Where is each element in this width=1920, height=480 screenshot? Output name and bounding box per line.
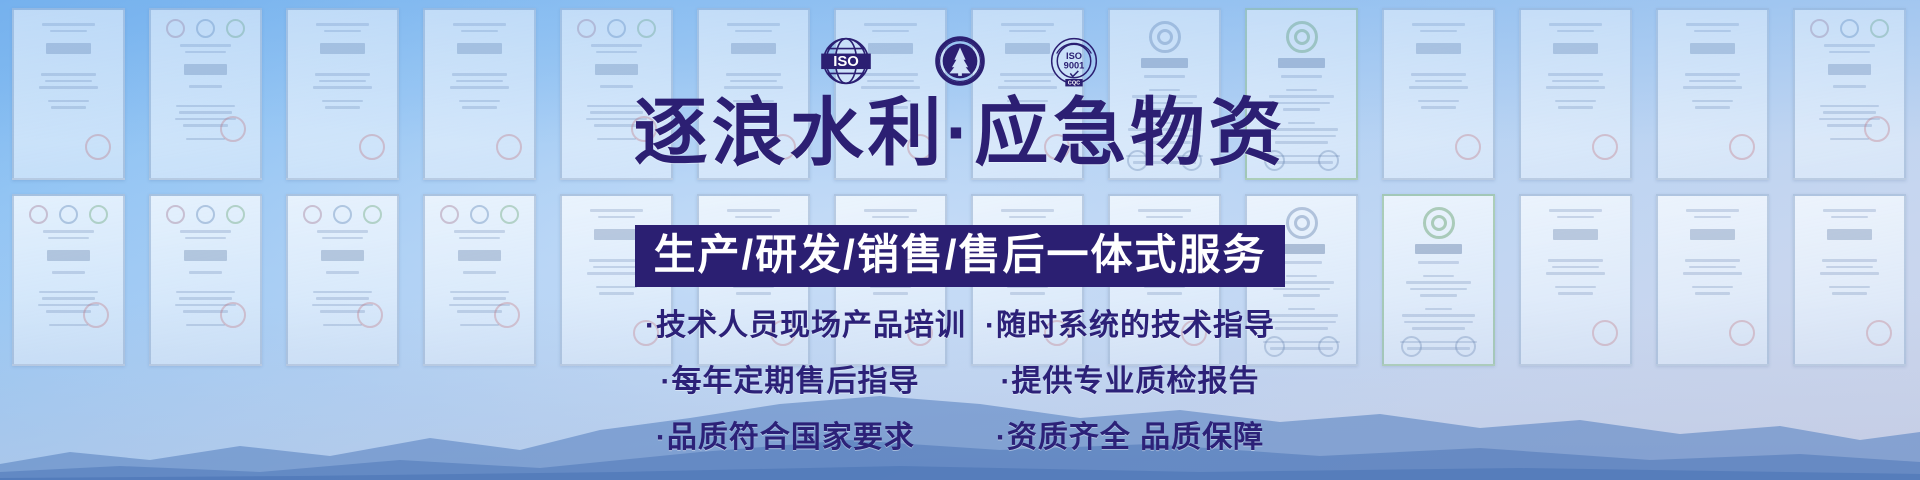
iso14000-badge [929, 30, 991, 92]
bullet-left: ·品质符合国家要求 [656, 412, 996, 456]
bullet-right: ·随时系统的技术指导 [985, 300, 1275, 344]
banner-content: ISO IS [0, 0, 1920, 480]
bullet-left: ·每年定期售后指导 [661, 356, 1001, 400]
iso-globe-badge: ISO [815, 30, 877, 92]
iso9001-cqc-badge: ISO 9001 CQC [1043, 30, 1105, 92]
bullet-right: ·提供专业质检报告 [1001, 356, 1260, 400]
banner-title: 逐浪水利·应急物资 [0, 96, 1920, 170]
svg-text:ISO: ISO [833, 54, 859, 70]
bullet-left: ·技术人员现场产品培训 [645, 300, 985, 344]
svg-text:9001: 9001 [1064, 60, 1085, 70]
banner-subtitle-bar-wrap: 生产/研发/销售/售后一体式服务 [0, 225, 1920, 287]
feature-bullet-list: ·技术人员现场产品培训 ·随时系统的技术指导 ·每年定期售后指导 ·提供专业质检… [0, 300, 1920, 456]
bullet-row: ·每年定期售后指导 ·提供专业质检报告 [661, 356, 1260, 400]
promo-banner: ISO IS [0, 0, 1920, 480]
svg-text:ISO: ISO [1066, 51, 1082, 61]
certification-badge-row: ISO IS [0, 30, 1920, 92]
bullet-row: ·品质符合国家要求 ·资质齐全 品质保障 [656, 412, 1264, 456]
svg-text:CQC: CQC [1068, 81, 1080, 87]
bullet-right: ·资质齐全 品质保障 [996, 412, 1264, 456]
bullet-row: ·技术人员现场产品培训 ·随时系统的技术指导 [645, 300, 1275, 344]
banner-subtitle: 生产/研发/销售/售后一体式服务 [635, 225, 1284, 287]
